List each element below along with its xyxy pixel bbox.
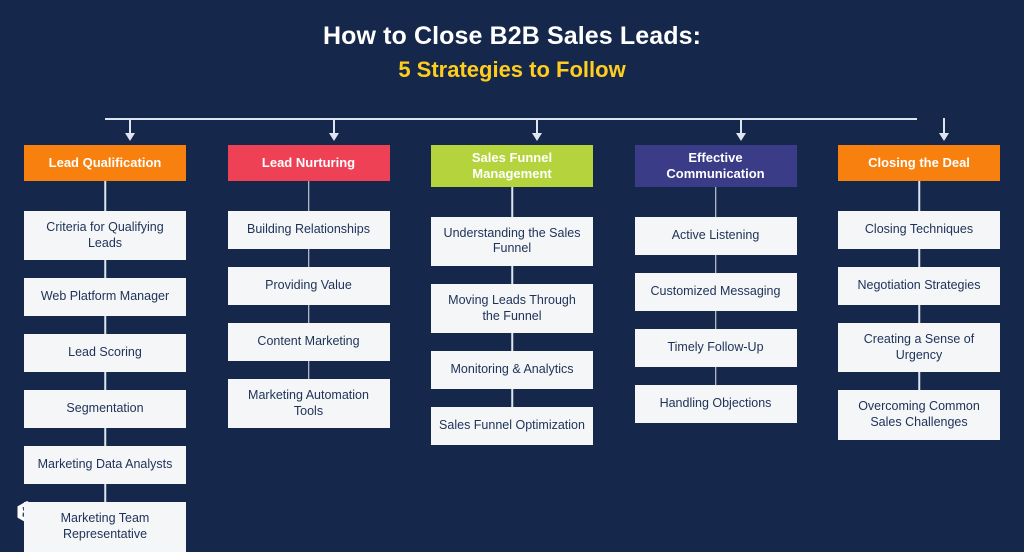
column-item[interactable]: Marketing Automation Tools <box>228 379 390 428</box>
column-item[interactable]: Understanding the Sales Funnel <box>431 217 593 266</box>
column-items: Criteria for Qualifying LeadsWeb Platfor… <box>24 181 186 552</box>
strategy-column: Lead QualificationCriteria for Qualifyin… <box>24 145 186 552</box>
column-item[interactable]: Sales Funnel Optimization <box>431 407 593 445</box>
strategy-column: Lead NurturingBuilding RelationshipsProv… <box>228 145 390 552</box>
column-header[interactable]: Effective Communication <box>635 145 797 187</box>
column-item[interactable]: Moving Leads Through the Funnel <box>431 284 593 333</box>
column-item[interactable]: Monitoring & Analytics <box>431 351 593 389</box>
column-item[interactable]: Active Listening <box>635 217 797 255</box>
strategy-column: Sales Funnel ManagementUnderstanding the… <box>431 145 593 552</box>
column-items: Understanding the Sales FunnelMoving Lea… <box>431 187 593 446</box>
column-item[interactable]: Segmentation <box>24 390 186 428</box>
strategy-column: Effective CommunicationActive ListeningC… <box>635 145 797 552</box>
column-item[interactable]: Customized Messaging <box>635 273 797 311</box>
strategy-columns: Lead QualificationCriteria for Qualifyin… <box>0 145 1024 552</box>
title-line-2: 5 Strategies to Follow <box>0 56 1024 84</box>
column-header[interactable]: Sales Funnel Management <box>431 145 593 187</box>
column-item[interactable]: Closing Techniques <box>838 211 1000 249</box>
column-item[interactable]: Criteria for Qualifying Leads <box>24 211 186 260</box>
column-item[interactable]: Web Platform Manager <box>24 278 186 316</box>
column-header[interactable]: Closing the Deal <box>838 145 1000 181</box>
column-item[interactable]: Timely Follow-Up <box>635 329 797 367</box>
column-item[interactable]: Building Relationships <box>228 211 390 249</box>
column-items: Building RelationshipsProviding ValueCon… <box>228 181 390 428</box>
column-item[interactable]: Marketing Team Representative <box>24 502 186 551</box>
column-header[interactable]: Lead Nurturing <box>228 145 390 181</box>
arrow-down-icon <box>329 133 339 141</box>
column-item[interactable]: Content Marketing <box>228 323 390 361</box>
arrow-down-icon <box>939 133 949 141</box>
column-item[interactable]: Marketing Data Analysts <box>24 446 186 484</box>
page-title: How to Close B2B Sales Leads: 5 Strategi… <box>0 20 1024 84</box>
column-items: Active ListeningCustomized MessagingTime… <box>635 187 797 423</box>
strategy-column: Closing the DealClosing TechniquesNegoti… <box>838 145 1000 552</box>
arrow-down-icon <box>736 133 746 141</box>
column-item[interactable]: Handling Objections <box>635 385 797 423</box>
column-items: Closing TechniquesNegotiation Strategies… <box>838 181 1000 440</box>
connector-horizontal-bus <box>105 118 917 120</box>
column-header[interactable]: Lead Qualification <box>24 145 186 181</box>
arrow-down-icon <box>125 133 135 141</box>
column-item[interactable]: Providing Value <box>228 267 390 305</box>
title-line-1: How to Close B2B Sales Leads: <box>0 20 1024 52</box>
column-item[interactable]: Creating a Sense of Urgency <box>838 323 1000 372</box>
column-item[interactable]: Lead Scoring <box>24 334 186 372</box>
column-item[interactable]: Overcoming Common Sales Challenges <box>838 390 1000 439</box>
arrow-down-icon <box>532 133 542 141</box>
column-item[interactable]: Negotiation Strategies <box>838 267 1000 305</box>
